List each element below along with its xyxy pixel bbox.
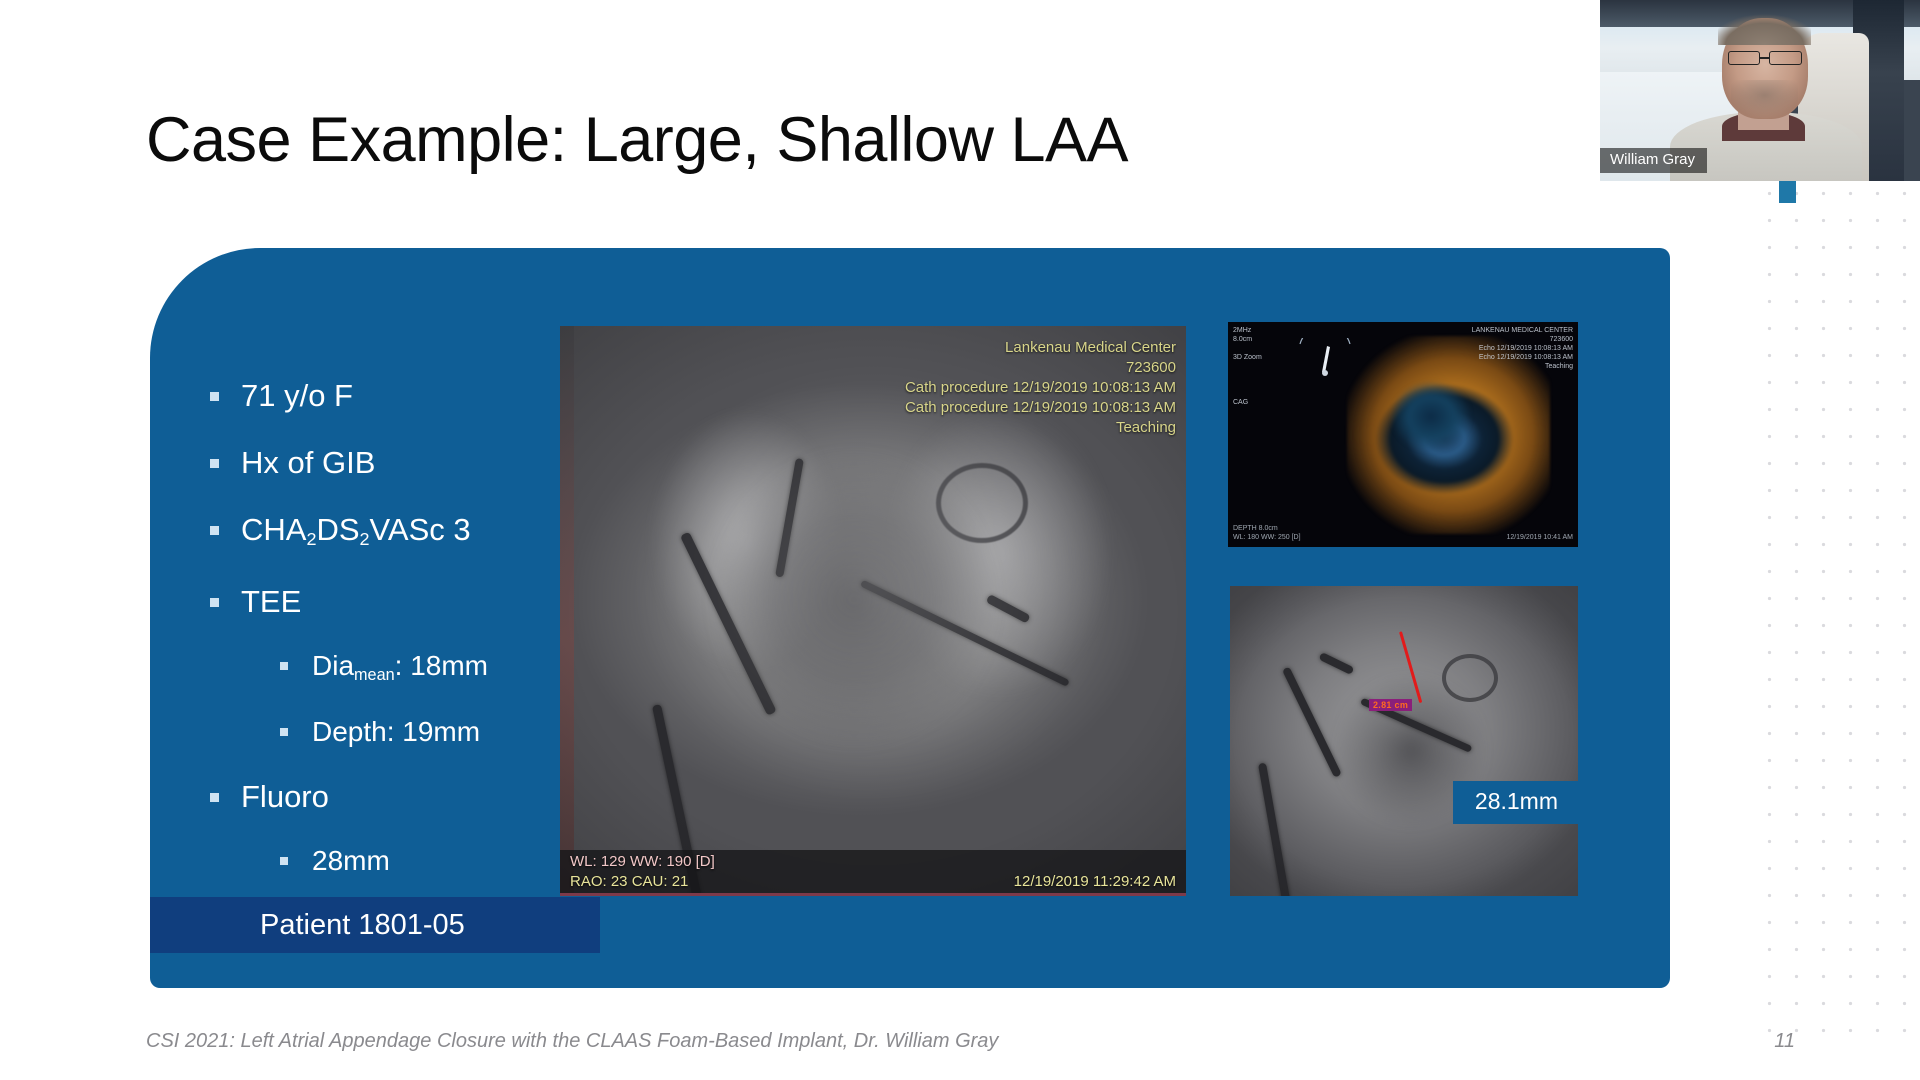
- tee-echo-image: 2MHz 8.0cm 3D Zoom CAG LANKENAU MEDICAL …: [1228, 322, 1578, 547]
- list-item-sub: Depth: 19mm: [210, 707, 610, 757]
- list-item-sub: Diamean: 18mm: [210, 641, 610, 695]
- chads-prefix: CHA: [241, 512, 306, 547]
- webcam-person-glasses: [1728, 51, 1802, 65]
- list-item: 71 y/o F: [210, 368, 610, 423]
- fluoro-gantry-angles: RAO: 23 CAU: 21: [570, 873, 688, 890]
- bullet-text: Depth: 19mm: [312, 707, 480, 757]
- fluoro-teaching-label: Teaching: [905, 418, 1176, 438]
- patient-id-bar: Patient 1801-05: [150, 897, 600, 953]
- fluoroscopy-main-image: Lankenau Medical Center 723600 Cath proc…: [560, 326, 1186, 896]
- echo-overlay-top-left: 2MHz 8.0cm 3D Zoom CAG: [1233, 326, 1262, 407]
- list-item: TEE: [210, 574, 610, 629]
- bullet-square-icon: [210, 526, 219, 535]
- content-card: 71 y/o F Hx of GIB CHA2DS2VASc 3 TEE Dia…: [150, 248, 1670, 988]
- chads-tail: VASc 3: [370, 512, 471, 547]
- measurement-value-label: 2.81 cm: [1369, 699, 1412, 711]
- dia-sub: mean: [354, 666, 395, 684]
- participant-name-label: William Gray: [1610, 151, 1695, 168]
- list-item: Fluoro: [210, 769, 610, 824]
- bullet-square-icon: [210, 793, 219, 802]
- fluoro-window-level: WL: 129 WW: 190 [D]: [570, 853, 715, 870]
- dia-prefix: Dia: [312, 650, 354, 681]
- bullet-text: Hx of GIB: [241, 435, 375, 490]
- fluoro-header-overlay: Lankenau Medical Center 723600 Cath proc…: [905, 338, 1176, 438]
- echo-laa-ostium: [1375, 367, 1487, 466]
- glasses-bridge: [1760, 57, 1769, 59]
- echo-overlay-top-right: LANKENAU MEDICAL CENTER 723600 Echo 12/1…: [1472, 326, 1573, 371]
- webcam-person-hair: [1718, 14, 1811, 45]
- fluoro-procedure-line-2: Cath procedure 12/19/2019 10:08:13 AM: [905, 398, 1176, 418]
- bullet-square-icon: [210, 598, 219, 607]
- dia-tail: : 18mm: [395, 650, 488, 681]
- fluoro-acquisition-datetime: 12/19/2019 11:29:42 AM: [1014, 873, 1176, 890]
- bullet-square-icon: [280, 857, 288, 865]
- chads-sub-2: 2: [360, 529, 370, 549]
- glasses-left-lens: [1728, 51, 1760, 65]
- list-item-sub: 28mm: [210, 836, 610, 886]
- list-item: Hx of GIB: [210, 435, 610, 490]
- bullet-text-dia-mean: Diamean: 18mm: [312, 641, 488, 695]
- chads-sub-1: 2: [306, 529, 316, 549]
- page-title: Case Example: Large, Shallow LAA: [146, 104, 1128, 176]
- bullet-text: 28mm: [312, 836, 390, 886]
- glasses-right-lens: [1769, 51, 1801, 65]
- clinical-bullet-list: 71 y/o F Hx of GIB CHA2DS2VASc 3 TEE Dia…: [210, 368, 610, 898]
- fluoro-site-name: Lankenau Medical Center: [905, 338, 1176, 358]
- webcam-person-beard: [1731, 80, 1798, 118]
- measurement-callout: 28.1mm: [1453, 781, 1578, 824]
- echo-probe-angle-icon: [1294, 338, 1356, 382]
- webcam-accent-tab: [1779, 181, 1796, 203]
- bullet-text: 71 y/o F: [241, 368, 353, 423]
- measure-vignette: [1230, 586, 1578, 896]
- page-number: 11: [1774, 1030, 1795, 1053]
- fluoro-procedure-line-1: Cath procedure 12/19/2019 10:08:13 AM: [905, 378, 1176, 398]
- patient-id-label: Patient 1801-05: [260, 909, 465, 942]
- bullet-square-icon: [210, 392, 219, 401]
- bullet-square-icon: [280, 662, 288, 670]
- webcam-video-tile[interactable]: William Gray: [1600, 0, 1920, 181]
- fluoro-accession: 723600: [905, 358, 1176, 378]
- presentation-slide: Case Example: Large, Shallow LAA 71 y/o …: [0, 0, 1920, 1080]
- echo-overlay-bottom-left: DEPTH 8.0cm WL: 180 WW: 250 [D]: [1233, 524, 1301, 542]
- bullet-square-icon: [280, 728, 288, 736]
- bullet-text: Fluoro: [241, 769, 329, 824]
- dot-grid-pattern: [1750, 180, 1920, 1040]
- webcam-name-badge: William Gray: [1600, 148, 1707, 173]
- slide-footer: CSI 2021: Left Atrial Appendage Closure …: [146, 1030, 998, 1053]
- bullet-square-icon: [210, 459, 219, 468]
- fluoroscopy-measurement-image: 2.81 cm 28.1mm: [1230, 586, 1578, 896]
- echo-overlay-bottom-right: 12/19/2019 10:41 AM: [1506, 533, 1573, 542]
- bullet-text-chadsvasc: CHA2DS2VASc 3: [241, 502, 471, 562]
- bullet-text: TEE: [241, 574, 301, 629]
- chads-mid: DS: [316, 512, 359, 547]
- list-item: CHA2DS2VASc 3: [210, 502, 610, 562]
